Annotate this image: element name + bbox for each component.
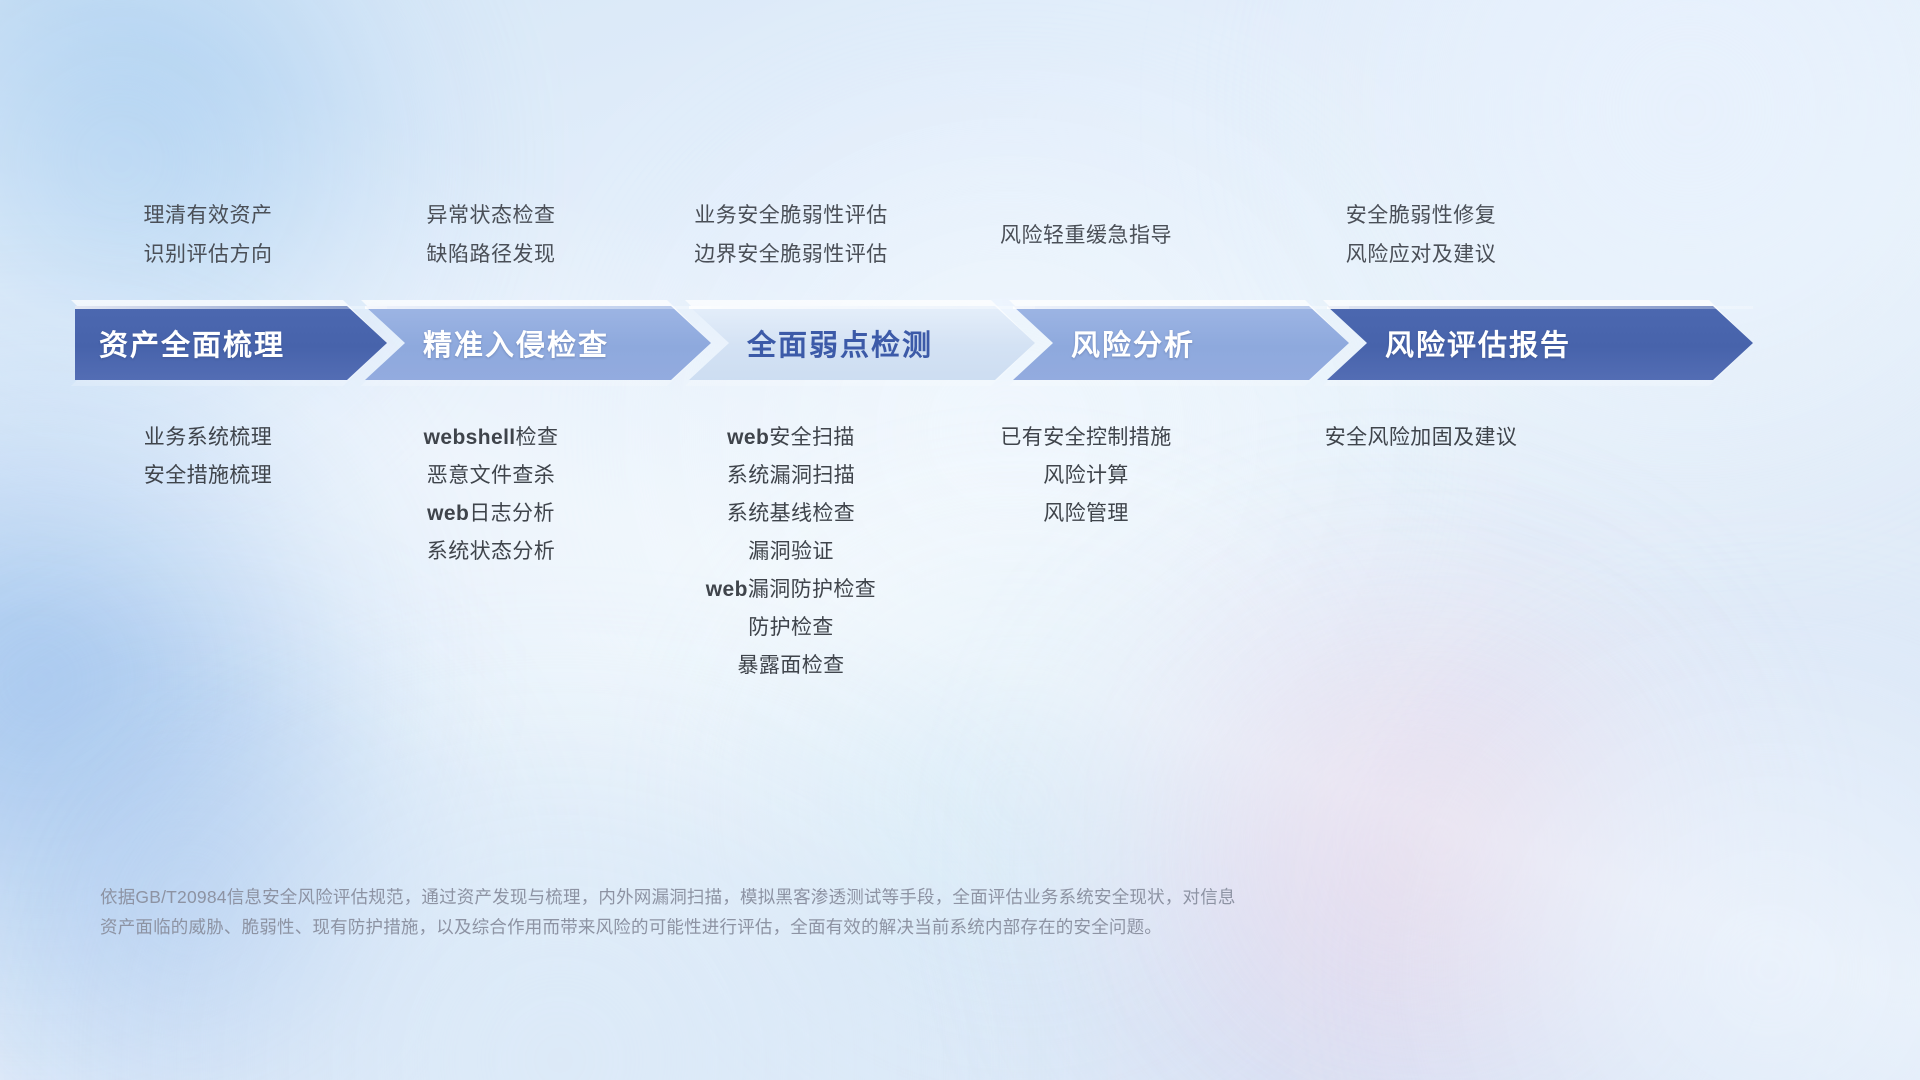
stage-weakness-detection[interactable]: 全面弱点检测 (689, 306, 1035, 380)
detail-list-item: 安全措施梳理 (144, 465, 272, 486)
detail-list-item: web漏洞防护检查 (706, 579, 876, 600)
chevron-bevel (1327, 306, 1753, 309)
chevron-label: 全面弱点检测 (747, 322, 933, 364)
detail-list-3: web安全扫描系统漏洞扫描系统基线检查漏洞验证web漏洞防护检查防护检查暴露面检… (641, 404, 941, 676)
stage-intrusion-check[interactable]: 精准入侵检查 (365, 306, 711, 380)
chevron-bevel (75, 306, 387, 309)
detail-list-item: 系统基线检查 (727, 503, 855, 524)
top-caption-group-3: 业务安全脆弱性评估边界安全脆弱性评估 (641, 180, 941, 290)
top-caption-group-4: 风险轻重缓急指导 (941, 180, 1231, 290)
bottom-detail-row: 业务系统梳理安全措施梳理webshell检查恶意文件查杀web日志分析系统状态分… (75, 404, 1850, 676)
detail-list-5: 安全风险加固及建议 (1231, 404, 1611, 676)
detail-list-item: 系统漏洞扫描 (727, 465, 855, 486)
detail-item-text: 漏洞防护检查 (748, 578, 876, 601)
detail-list-item: 已有安全控制措施 (1000, 427, 1171, 448)
stage-risk-analysis[interactable]: 风险分析 (1013, 306, 1349, 380)
top-caption: 风险轻重缓急指导 (1000, 225, 1172, 246)
detail-list-item: 风险管理 (1043, 503, 1129, 524)
chevron-label: 风险分析 (1071, 322, 1195, 364)
top-caption: 业务安全脆弱性评估 (694, 205, 888, 226)
chevron-bevel (1013, 306, 1349, 309)
footer-line-1: 依据GB/T20984信息安全风险评估规范，通过资产发现与梳理，内外网漏洞扫描，… (100, 882, 1620, 912)
chevron-label: 风险评估报告 (1385, 322, 1571, 364)
top-caption: 异常状态检查 (427, 205, 556, 226)
detail-list-item: 漏洞验证 (748, 541, 834, 562)
detail-item-text: 日志分析 (469, 502, 555, 525)
detail-list-item: 恶意文件查杀 (427, 465, 555, 486)
detail-item-text: 检查 (516, 426, 559, 449)
detail-list-4: 已有安全控制措施风险计算风险管理 (941, 404, 1231, 676)
process-diagram: 理清有效资产识别评估方向异常状态检查缺陷路径发现业务安全脆弱性评估边界安全脆弱性… (0, 0, 1920, 1080)
chevron-bevel (689, 306, 1035, 309)
detail-list-item: 防护检查 (748, 617, 834, 638)
footer-line-2: 资产面临的威胁、脆弱性、现有防护措施，以及综合作用而带来风险的可能性进行评估，全… (100, 912, 1620, 942)
detail-list-1: 业务系统梳理安全措施梳理 (75, 404, 341, 676)
detail-list-item: webshell检查 (424, 427, 559, 448)
detail-list-item: web日志分析 (427, 503, 555, 524)
detail-item-keyword: web (727, 426, 769, 449)
top-caption-group-1: 理清有效资产识别评估方向 (75, 180, 341, 290)
footer-description: 依据GB/T20984信息安全风险评估规范，通过资产发现与梳理，内外网漏洞扫描，… (100, 882, 1620, 942)
chevron-bevel (365, 306, 711, 309)
top-caption-row: 理清有效资产识别评估方向异常状态检查缺陷路径发现业务安全脆弱性评估边界安全脆弱性… (75, 180, 1845, 290)
stage-asset-inventory[interactable]: 资产全面梳理 (75, 306, 387, 380)
top-caption: 边界安全脆弱性评估 (694, 244, 888, 265)
detail-list-item: web安全扫描 (727, 427, 855, 448)
detail-list-item: 业务系统梳理 (144, 427, 272, 448)
stage-risk-report[interactable]: 风险评估报告 (1327, 306, 1753, 380)
top-caption: 缺陷路径发现 (427, 244, 556, 265)
detail-list-item: 安全风险加固及建议 (1325, 427, 1518, 448)
top-caption: 理清有效资产 (144, 205, 273, 226)
detail-item-keyword: web (706, 578, 748, 601)
chevron-label: 资产全面梳理 (99, 322, 285, 364)
detail-item-text: 安全扫描 (769, 426, 855, 449)
detail-list-item: 风险计算 (1043, 465, 1129, 486)
top-caption: 安全脆弱性修复 (1346, 205, 1497, 226)
top-caption-group-5: 安全脆弱性修复风险应对及建议 (1231, 180, 1611, 290)
top-caption: 风险应对及建议 (1346, 244, 1497, 265)
detail-list-2: webshell检查恶意文件查杀web日志分析系统状态分析 (341, 404, 641, 676)
process-chevron-band: 资产全面梳理精准入侵检查全面弱点检测风险分析风险评估报告 (75, 306, 1850, 380)
detail-list-item: 暴露面检查 (738, 655, 845, 676)
top-caption: 识别评估方向 (144, 244, 273, 265)
chevron-label: 精准入侵检查 (423, 322, 609, 364)
top-caption-group-2: 异常状态检查缺陷路径发现 (341, 180, 641, 290)
detail-item-keyword: webshell (424, 426, 516, 449)
detail-list-item: 系统状态分析 (427, 541, 555, 562)
detail-item-keyword: web (427, 502, 469, 525)
